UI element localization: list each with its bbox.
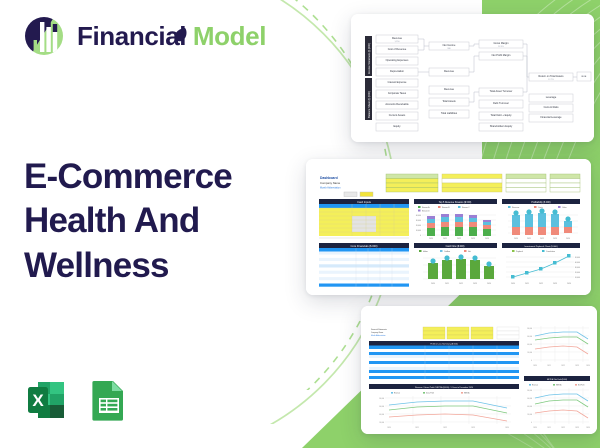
- svg-text:20,000: 20,000: [379, 422, 384, 424]
- svg-text:2024: 2024: [586, 427, 590, 429]
- svg-text:2021: 2021: [547, 365, 551, 367]
- svg-text:Total Debt + Equity: Total Debt + Equity: [490, 114, 512, 117]
- svg-text:10,000: 10,000: [575, 277, 580, 279]
- svg-text:Stream C: Stream C: [462, 206, 470, 209]
- svg-text:2024: 2024: [567, 283, 571, 285]
- brand-logo[interactable]: Financial Model: [22, 14, 266, 58]
- svg-text:Stream A: Stream A: [422, 206, 430, 209]
- svg-text:2022: 2022: [561, 365, 565, 367]
- svg-text:2024: 2024: [586, 365, 590, 367]
- svg-text:2021: 2021: [445, 283, 449, 285]
- svg-text:Interest Expense: Interest Expense: [388, 81, 407, 84]
- svg-text:Financial Statements: Financial Statements: [371, 328, 387, 331]
- svg-text:Month Abbreviation: Month Abbreviation: [371, 334, 386, 337]
- svg-text:Debt Turnover: Debt Turnover: [493, 102, 509, 105]
- svg-text:2023: 2023: [553, 283, 557, 285]
- svg-text:Costs: Costs: [538, 206, 543, 209]
- svg-text:2024: 2024: [505, 427, 509, 429]
- title-line-3: Wellness: [24, 246, 169, 285]
- svg-text:Core Financials ($ 000): Core Financials ($ 000): [351, 244, 378, 248]
- svg-text:2021: 2021: [527, 238, 531, 240]
- svg-text:Cumulative: Cumulative: [546, 250, 555, 253]
- svg-text:Shareholders Equity: Shareholders Equity: [490, 125, 513, 128]
- svg-text:1,250: 1,250: [394, 41, 400, 43]
- svg-text:EBITDA / Net Profit ($ 000): EBITDA / Net Profit ($ 000): [547, 378, 568, 381]
- svg-text:Current Assets: Current Assets: [389, 114, 406, 117]
- svg-text:2021: 2021: [525, 283, 529, 285]
- svg-text:20,000: 20,000: [527, 352, 532, 354]
- svg-text:2022: 2022: [457, 238, 461, 240]
- svg-text:Stream B: Stream B: [442, 206, 450, 209]
- svg-text:2020: 2020: [429, 238, 433, 240]
- svg-text:60,000: 60,000: [527, 398, 532, 400]
- svg-text:40,000: 40,000: [575, 262, 580, 264]
- svg-text:2022: 2022: [539, 283, 543, 285]
- svg-text:60,000: 60,000: [379, 406, 384, 408]
- flowchart-thumbnail: Income Statement (I) (000) Balance Sheet…: [351, 14, 594, 142]
- excel-icon[interactable]: X: [24, 378, 68, 422]
- svg-text:Operating Expenses: Operating Expenses: [386, 59, 409, 62]
- svg-text:Revenue: Revenue: [532, 385, 538, 387]
- svg-text:80,000: 80,000: [379, 398, 384, 400]
- svg-text:Accounts Receivable: Accounts Receivable: [385, 103, 409, 106]
- brand-name-part2: Model: [193, 21, 266, 51]
- svg-text:Net Income: Net Income: [443, 44, 456, 47]
- svg-text:80,000: 80,000: [527, 390, 532, 392]
- svg-text:2024: 2024: [485, 238, 489, 240]
- financial-statements-charts-preview[interactable]: Financial Statements Company Name Month …: [361, 306, 597, 434]
- svg-text:Profit & Loss Summary ($ 000): Profit & Loss Summary ($ 000): [430, 342, 458, 345]
- svg-text:2020: 2020: [387, 427, 391, 429]
- svg-text:Total Asset Turnover: Total Asset Turnover: [490, 90, 513, 93]
- svg-text:Net Profit Margin: Net Profit Margin: [492, 54, 511, 57]
- svg-text:30,000: 30,000: [416, 220, 421, 222]
- svg-text:2023: 2023: [575, 365, 579, 367]
- svg-text:2024: 2024: [487, 283, 491, 285]
- dashboard-thumbnail: Dashboard Company Name Month Abbreviatio…: [306, 159, 591, 295]
- financial-dashboard-preview[interactable]: Dashboard Company Name Month Abbreviatio…: [306, 159, 591, 295]
- svg-text:12.7%: 12.7%: [548, 79, 554, 81]
- svg-text:Gross Margin: Gross Margin: [493, 42, 509, 45]
- svg-text:20,000: 20,000: [575, 272, 580, 274]
- svg-text:2020: 2020: [431, 283, 435, 285]
- svg-text:2023: 2023: [473, 283, 477, 285]
- svg-text:Revenue: Revenue: [392, 37, 403, 40]
- svg-text:2023: 2023: [553, 238, 557, 240]
- svg-text:Income Statement (I) (000): Income Statement (I) (000): [367, 43, 371, 74]
- svg-text:2023: 2023: [471, 427, 475, 429]
- title-line-2: Health And: [24, 201, 199, 240]
- svg-text:Balance Sheet (I) (000): Balance Sheet (I) (000): [367, 91, 371, 118]
- dupont-analysis-flowchart-preview[interactable]: Income Statement (I) (000) Balance Sheet…: [351, 14, 594, 142]
- google-sheets-icon[interactable]: [87, 378, 131, 422]
- svg-text:Other: Other: [562, 206, 567, 209]
- svg-text:60,000: 60,000: [527, 336, 532, 338]
- svg-text:2020: 2020: [514, 238, 518, 240]
- svg-text:Dashboard: Dashboard: [320, 176, 338, 180]
- svg-text:40,000: 40,000: [527, 406, 532, 408]
- svg-text:Stream D: Stream D: [422, 209, 430, 212]
- svg-text:40,000: 40,000: [527, 344, 532, 346]
- svg-text:Total Assets: Total Assets: [442, 100, 456, 103]
- svg-text:2022: 2022: [540, 238, 544, 240]
- svg-text:Cost of Revenue: Cost of Revenue: [388, 48, 407, 51]
- svg-text:0: 0: [420, 235, 421, 237]
- svg-text:2020: 2020: [533, 365, 537, 367]
- svg-text:Revenue: Revenue: [444, 70, 455, 73]
- svg-text:Outflow: Outflow: [444, 250, 451, 253]
- svg-text:2024: 2024: [566, 238, 570, 240]
- svg-text:2020: 2020: [533, 427, 537, 429]
- supported-formats: X: [24, 378, 131, 422]
- svg-text:20,000: 20,000: [527, 414, 532, 416]
- svg-text:2022: 2022: [561, 427, 565, 429]
- svg-text:2020: 2020: [511, 283, 515, 285]
- svg-text:30,000: 30,000: [575, 267, 580, 269]
- brand-name: Financial Model: [77, 23, 266, 49]
- svg-text:2021: 2021: [415, 427, 419, 429]
- svg-text:Revenue: Revenue: [394, 393, 400, 395]
- svg-text:Investment Payback Chart ($ 00: Investment Payback Chart ($ 000): [524, 245, 557, 248]
- statements-thumbnail: Financial Statements Company Name Month …: [361, 306, 597, 434]
- svg-text:Return on Total Assets: Return on Total Assets: [539, 75, 565, 78]
- svg-text:Depreciation: Depreciation: [390, 70, 405, 73]
- svg-text:20,000: 20,000: [416, 225, 421, 227]
- svg-text:Company Name: Company Name: [371, 332, 383, 334]
- svg-text:X: X: [32, 391, 44, 410]
- svg-text:2021: 2021: [547, 427, 551, 429]
- svg-text:Revenue: Revenue: [512, 207, 519, 209]
- svg-text:Profitability ($ 000): Profitability ($ 000): [531, 201, 550, 204]
- svg-text:Leverage: Leverage: [546, 96, 557, 99]
- svg-text:10,000: 10,000: [416, 230, 421, 232]
- svg-text:52.5%: 52.5%: [498, 46, 504, 48]
- svg-text:2023: 2023: [575, 427, 579, 429]
- svg-text:Equity: Equity: [394, 125, 402, 128]
- svg-text:2021: 2021: [443, 238, 447, 240]
- svg-text:Cash Inputs: Cash Inputs: [357, 200, 372, 204]
- title-line-1: E-Commerce: [24, 157, 232, 196]
- svg-text:Cash Flow ($ 000): Cash Flow ($ 000): [446, 246, 465, 248]
- svg-text:Corporate Taxes: Corporate Taxes: [388, 92, 407, 95]
- svg-text:Financial Leverage: Financial Leverage: [540, 116, 562, 119]
- svg-text:ROE: ROE: [582, 76, 587, 78]
- svg-text:2022: 2022: [443, 427, 447, 429]
- svg-text:Top 5 Revenue Streams ($ 000): Top 5 Revenue Streams ($ 000): [439, 201, 472, 204]
- leaf-accent-icon: [174, 27, 187, 43]
- svg-text:Total Liabilities: Total Liabilities: [441, 112, 458, 115]
- svg-text:Company Name: Company Name: [320, 181, 341, 185]
- svg-text:2023: 2023: [471, 238, 475, 240]
- svg-text:Month Abbreviation: Month Abbreviation: [320, 187, 341, 190]
- svg-text:Current Ratio: Current Ratio: [544, 106, 559, 109]
- svg-text:Inflow: Inflow: [423, 251, 428, 253]
- svg-text:40,000: 40,000: [416, 215, 421, 217]
- svg-text:40,000: 40,000: [379, 414, 384, 416]
- svg-text:50,000: 50,000: [575, 257, 580, 259]
- svg-text:Payback: Payback: [516, 251, 523, 253]
- svg-text:2022: 2022: [459, 283, 463, 285]
- page-title: E-Commerce Health And Wellness: [24, 155, 232, 288]
- svg-text:80,000: 80,000: [527, 328, 532, 330]
- svg-text:Revenue: Revenue: [444, 88, 455, 91]
- svg-text:Revenue / Gross Profit / EBITD: Revenue / Gross Profit / EBITDA ($ 000) …: [415, 386, 473, 389]
- financial-model-logo-icon: [22, 14, 66, 58]
